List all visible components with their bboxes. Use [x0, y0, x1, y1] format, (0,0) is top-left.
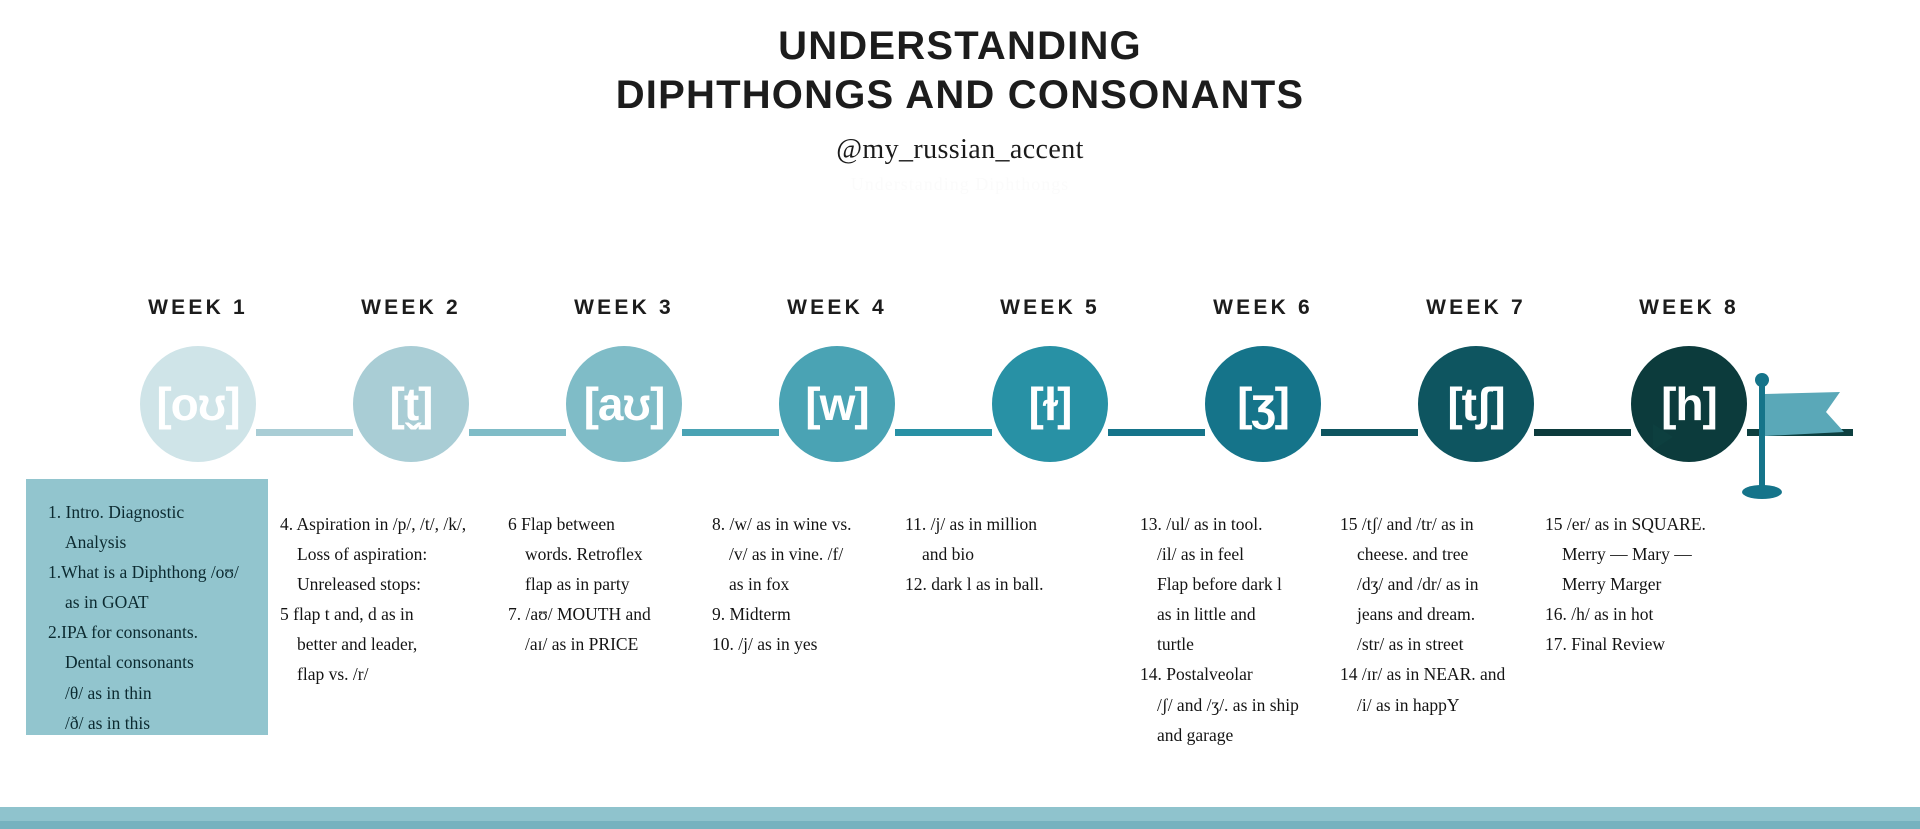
timeline-connector: [682, 429, 779, 436]
timeline-arrow-icon: [1653, 424, 1673, 450]
timeline-connector: [895, 429, 992, 436]
timeline-node-week-5[interactable]: WEEK 5[ɫ]: [992, 296, 1108, 462]
phoneme-symbol: [w]: [805, 381, 868, 427]
bottom-bar: [0, 807, 1920, 829]
week-column-6: 13. /ul/ as in tool./il/ as in feelFlap …: [1140, 509, 1370, 750]
syllabus-line: /θ/ as in thin: [48, 678, 252, 708]
timeline-connector: [256, 429, 353, 436]
syllabus-line: 4. Aspiration in /p/, /t/, /k/,: [280, 509, 505, 539]
syllabus-line: 15 /er/ as in SQUARE.: [1545, 509, 1775, 539]
syllabus-line: 16. /h/ as in hot: [1545, 599, 1775, 629]
syllabus-line: 11. /j/ as in million: [905, 509, 1135, 539]
timeline: WEEK 1[oʊ]WEEK 2[t̬]WEEK 3[aʊ]WEEK 4[w]W…: [0, 296, 1920, 496]
title-line-1: UNDERSTANDING: [778, 24, 1142, 68]
account-handle: @my_russian_accent: [0, 134, 1920, 166]
syllabus-line: Merry — Mary —: [1545, 539, 1775, 569]
timeline-node-week-4[interactable]: WEEK 4[w]: [779, 296, 895, 462]
phoneme-symbol: [h]: [1661, 381, 1717, 427]
syllabus-line: better and leader,: [280, 629, 505, 659]
week-content-columns: 1. Intro. DiagnosticAnalysis1.What is a …: [0, 487, 1920, 797]
syllabus-line: flap as in party: [508, 569, 708, 599]
phoneme-circle[interactable]: [w]: [779, 346, 895, 462]
syllabus-line: 6 Flap between: [508, 509, 708, 539]
week-label: WEEK 5: [992, 296, 1108, 320]
syllabus-line: /ð/ as in this: [48, 708, 252, 738]
timeline-node-week-7[interactable]: WEEK 7[tʃ]: [1418, 296, 1534, 462]
week-column-4: 8. /w/ as in wine vs./v/ as in vine. /f/…: [712, 509, 907, 659]
week-column-2: 4. Aspiration in /p/, /t/, /k/,Loss of a…: [280, 509, 505, 690]
phoneme-circle[interactable]: [tʃ]: [1418, 346, 1534, 462]
syllabus-line: 17. Final Review: [1545, 629, 1775, 659]
week-label: WEEK 1: [140, 296, 256, 320]
syllabus-line: /v/ as in vine. /f/: [712, 539, 907, 569]
syllabus-line: Loss of aspiration:: [280, 539, 505, 569]
finish-flag-icon: [1740, 370, 1860, 500]
timeline-connector: [1108, 429, 1205, 436]
week-column-7: 15 /tʃ/ and /tr/ as incheese. and tree/d…: [1340, 509, 1540, 720]
phoneme-circle[interactable]: [ʒ]: [1205, 346, 1321, 462]
week-label: WEEK 2: [353, 296, 469, 320]
watermark-text: Understanding Diphthongs: [0, 174, 1920, 195]
timeline-connector: [1321, 429, 1418, 436]
timeline-node-week-3[interactable]: WEEK 3[aʊ]: [566, 296, 682, 462]
week-column-1: 1. Intro. DiagnosticAnalysis1.What is a …: [26, 479, 268, 735]
syllabus-line: flap vs. /r/: [280, 659, 505, 689]
syllabus-line: 13. /ul/ as in tool.: [1140, 509, 1370, 539]
syllabus-line: /ʃ/ and /ʒ/. as in ship: [1140, 690, 1370, 720]
phoneme-symbol: [ɫ]: [1029, 381, 1072, 427]
syllabus-line: Merry Marger: [1545, 569, 1775, 599]
syllabus-line: cheese. and tree: [1340, 539, 1540, 569]
syllabus-line: 1. Intro. Diagnostic: [48, 497, 252, 527]
phoneme-symbol: [ʒ]: [1237, 381, 1289, 427]
week-column-8: 15 /er/ as in SQUARE.Merry — Mary —Merry…: [1545, 509, 1775, 659]
syllabus-line: turtle: [1140, 629, 1370, 659]
week-label: WEEK 8: [1631, 296, 1747, 320]
phoneme-symbol: [tʃ]: [1447, 381, 1504, 427]
syllabus-line: Dental consonants: [48, 647, 252, 677]
timeline-connector: [1534, 429, 1631, 436]
syllabus-line: and garage: [1140, 720, 1370, 750]
syllabus-line: 14 /ɪr/ as in NEAR. and: [1340, 659, 1540, 689]
syllabus-line: /str/ as in street: [1340, 629, 1540, 659]
syllabus-line: 10. /j/ as in yes: [712, 629, 907, 659]
syllabus-line: /i/ as in happY: [1340, 690, 1540, 720]
syllabus-line: 5 flap t and, d as in: [280, 599, 505, 629]
syllabus-line: as in fox: [712, 569, 907, 599]
week-label: WEEK 6: [1205, 296, 1321, 320]
week-column-3: 6 Flap betweenwords. Retroflexflap as in…: [508, 509, 708, 659]
syllabus-line: /il/ as in feel: [1140, 539, 1370, 569]
syllabus-line: /dʒ/ and /dr/ as in: [1340, 569, 1540, 599]
syllabus-line: 1.What is a Diphthong /oʊ/: [48, 557, 252, 587]
phoneme-symbol: [aʊ]: [584, 381, 665, 427]
syllabus-line: 8. /w/ as in wine vs.: [712, 509, 907, 539]
syllabus-line: jeans and dream.: [1340, 599, 1540, 629]
syllabus-line: 15 /tʃ/ and /tr/ as in: [1340, 509, 1540, 539]
syllabus-line: 7. /aʊ/ MOUTH and: [508, 599, 708, 629]
bottom-bar-accent: [0, 821, 1920, 829]
syllabus-line: and bio: [905, 539, 1135, 569]
phoneme-circle[interactable]: [aʊ]: [566, 346, 682, 462]
phoneme-circle[interactable]: [oʊ]: [140, 346, 256, 462]
timeline-connector: [469, 429, 566, 436]
syllabus-line: /aɪ/ as in PRICE: [508, 629, 708, 659]
page-title: UNDERSTANDING DIPHTHONGS AND CONSONANTS: [0, 22, 1920, 120]
timeline-node-week-6[interactable]: WEEK 6[ʒ]: [1205, 296, 1321, 462]
phoneme-symbol: [oʊ]: [156, 381, 239, 427]
syllabus-line: Analysis: [48, 527, 252, 557]
week-column-5: 11. /j/ as in millionand bio12. dark l a…: [905, 509, 1135, 599]
phoneme-circle[interactable]: [ɫ]: [992, 346, 1108, 462]
phoneme-circle[interactable]: [h]: [1631, 346, 1747, 462]
syllabus-line: Flap before dark l: [1140, 569, 1370, 599]
phoneme-symbol: [t̬]: [390, 381, 433, 427]
syllabus-line: 9. Midterm: [712, 599, 907, 629]
page-header: UNDERSTANDING DIPHTHONGS AND CONSONANTS …: [0, 0, 1920, 195]
week-label: WEEK 4: [779, 296, 895, 320]
syllabus-line: 2.IPA for consonants.: [48, 617, 252, 647]
syllabus-line: as in little and: [1140, 599, 1370, 629]
week-label: WEEK 3: [566, 296, 682, 320]
phoneme-circle[interactable]: [t̬]: [353, 346, 469, 462]
syllabus-line: 14. Postalveolar: [1140, 659, 1370, 689]
title-line-2: DIPHTHONGS AND CONSONANTS: [0, 71, 1920, 120]
syllabus-line: Unreleased stops:: [280, 569, 505, 599]
timeline-node-week-8[interactable]: WEEK 8[h]: [1631, 296, 1747, 462]
week-label: WEEK 7: [1418, 296, 1534, 320]
timeline-node-week-1[interactable]: WEEK 1[oʊ]: [140, 296, 256, 462]
syllabus-line: words. Retroflex: [508, 539, 708, 569]
syllabus-line: as in GOAT: [48, 587, 252, 617]
timeline-node-week-2[interactable]: WEEK 2[t̬]: [353, 296, 469, 462]
syllabus-line: 12. dark l as in ball.: [905, 569, 1135, 599]
